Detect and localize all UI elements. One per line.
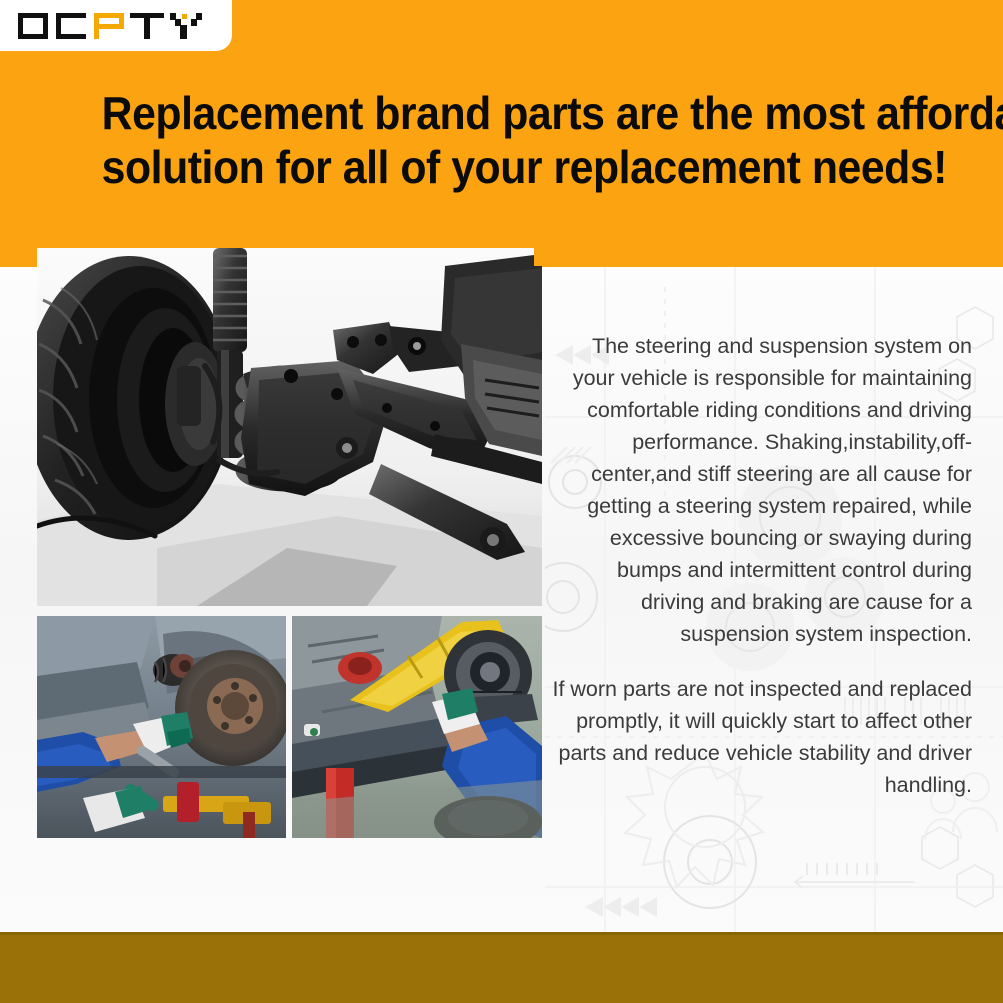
- bottom-bar-top-edge: [0, 932, 1003, 935]
- photo-mechanic-brake-service: [37, 616, 286, 838]
- header-band: Replacement brand parts are the most aff…: [0, 0, 1003, 267]
- copy-paragraph-1: The steering and suspension system on yo…: [548, 330, 972, 650]
- copy-paragraph-2: If worn parts are not inspected and repl…: [548, 673, 972, 801]
- headline-line-1: Replacement brand parts are the most aff…: [102, 86, 944, 140]
- photo-suspension-assembly: [37, 248, 542, 606]
- description-copy: The steering and suspension system on yo…: [548, 330, 972, 801]
- bottom-color-bar: [0, 932, 1003, 1003]
- headline: Replacement brand parts are the most aff…: [102, 86, 944, 194]
- photo-mechanic-under-lift: [292, 616, 542, 838]
- marketing-banner: Replacement brand parts are the most aff…: [0, 0, 1003, 1003]
- headline-line-2: solution for all of your replacement nee…: [102, 140, 944, 194]
- ocpty-logo-icon: [16, 9, 216, 43]
- brand-logo-plate: [0, 0, 232, 51]
